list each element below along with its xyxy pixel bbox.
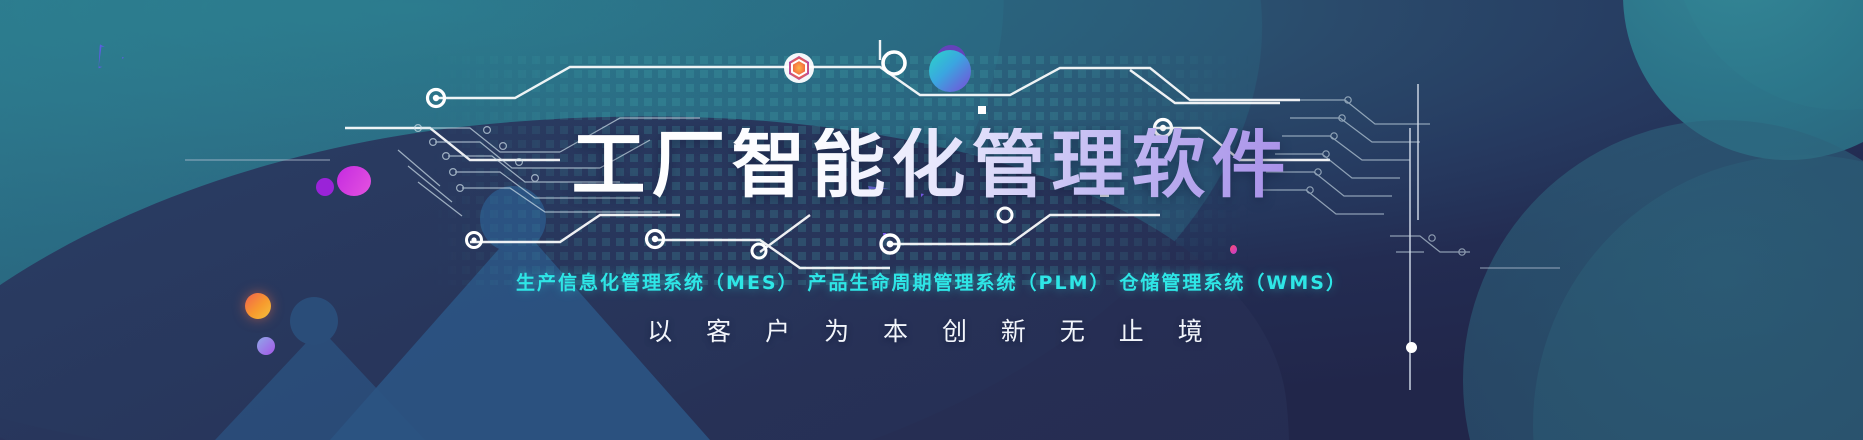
title-container: 工厂智能化管理软件 bbox=[0, 128, 1863, 202]
subtitle-item-plm: 产品生命周期管理系统（PLM） bbox=[808, 268, 1111, 295]
tagline: 以 客 户 为 本 创 新 无 止 境 bbox=[647, 312, 1216, 348]
pink-dot-icon bbox=[1230, 245, 1237, 254]
hero-banner: 工厂智能化管理软件 生产信息化管理系统（MES） 产品生命周期管理系统（PLM）… bbox=[0, 0, 1863, 440]
subtitle-item-wms: 仓储管理系统（WMS） bbox=[1119, 268, 1347, 295]
background-layer bbox=[0, 0, 1863, 440]
subtitle-container: 生产信息化管理系统（MES） 产品生命周期管理系统（PLM） 仓储管理系统（WM… bbox=[0, 268, 1863, 295]
tagline-container: 以 客 户 为 本 创 新 无 止 境 bbox=[0, 312, 1863, 348]
page-title: 工厂智能化管理软件 bbox=[572, 128, 1292, 202]
subtitle-item-mes: 生产信息化管理系统（MES） bbox=[516, 268, 799, 295]
